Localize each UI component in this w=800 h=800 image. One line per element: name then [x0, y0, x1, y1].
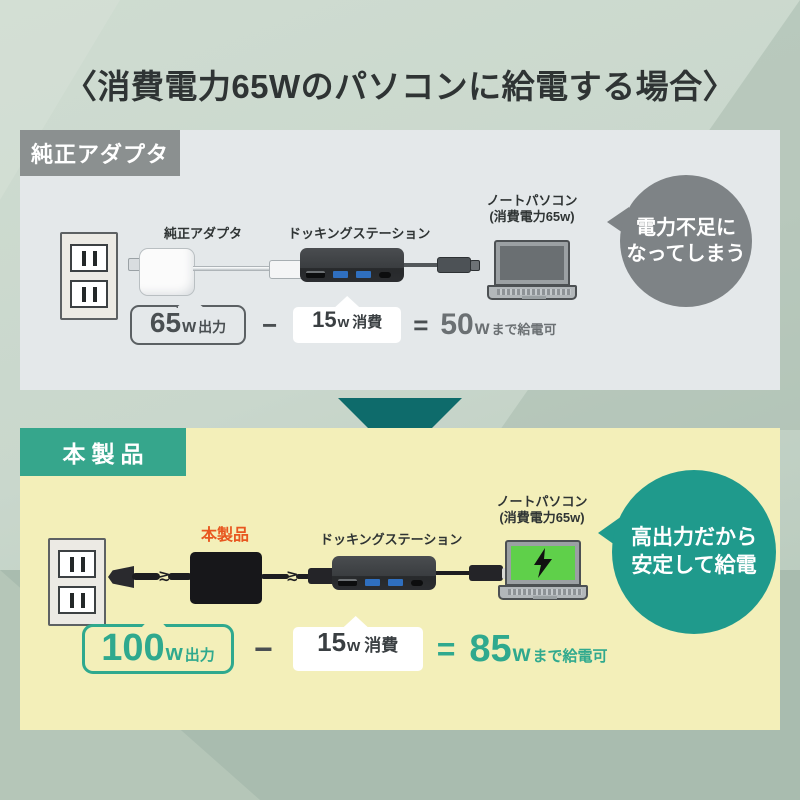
formula-consume-box-bottom: 15 w 消費: [293, 627, 423, 671]
formula-minus-top: −: [262, 310, 277, 341]
lightning-bolt-icon: [532, 548, 554, 578]
label-original-adapter: 純正アダプタ: [143, 226, 263, 242]
laptop-keyboard-bottom: [508, 589, 582, 595]
label-docking-station-top: ドッキングステーション: [288, 226, 418, 242]
outlet-socket-lower-bottom: [58, 586, 96, 614]
ac-plug-prong-icon: [108, 566, 134, 588]
callout-power-shortage: 電力不足に なってしまう: [620, 175, 752, 307]
formula-equals-top: =: [413, 310, 428, 341]
original-adapter-body: [139, 248, 195, 296]
dock-cable-top: [404, 263, 440, 267]
laptop-bottom: [498, 540, 588, 602]
formula-notch-output-top: [176, 296, 204, 308]
formula-output-box-top: 65 w 出力: [130, 305, 246, 345]
badge-original-adapter: 純正アダプタ: [20, 130, 180, 176]
label-this-product: 本製品: [170, 526, 280, 546]
outlet-socket-upper-bottom: [58, 550, 96, 578]
label-laptop-bottom: ノートパソコン (消費電力65w): [472, 494, 612, 527]
formula-notch-consume-top: [334, 296, 360, 308]
formula-notch-output-bottom: [141, 614, 167, 628]
laptop-top: [487, 240, 577, 302]
outlet-socket-lower: [70, 280, 108, 308]
port-usb-a-2-icon: [356, 271, 371, 278]
power-outlet-bottom: [48, 538, 106, 626]
callout-stable-power: 高出力だから 安定して給電: [612, 470, 776, 634]
laptop-screen-top: [500, 246, 564, 280]
dock-usbc-plug-top: [437, 257, 471, 273]
power-outlet-top: [60, 232, 118, 320]
laptop-keyboard-top: [497, 289, 571, 295]
port-usb-a-2-icon-bottom: [388, 579, 403, 586]
laptop-lid-top: [494, 240, 570, 286]
formula-top: 65 w 出力 − 15 w 消費 = 50 w まで給電可: [130, 305, 557, 345]
laptop-trackpad-top: [522, 296, 546, 299]
port-usb-c-icon-bottom: [411, 580, 423, 586]
laptop-screen-bottom: [511, 546, 575, 580]
formula-bottom: 100 w 出力 − 15 w 消費 = 85 w まで給電可: [82, 624, 608, 674]
outlet-socket-upper: [70, 244, 108, 272]
formula-consume-box-top: 15 w 消費: [293, 307, 401, 343]
adapter-cable-top: [193, 266, 273, 271]
port-hdmi-icon-bottom: [338, 579, 357, 586]
laptop-base-top: [487, 285, 577, 300]
formula-result-bottom: 85 w まで給電可: [469, 628, 607, 671]
dock-ports-top: [306, 271, 391, 278]
formula-notch-consume-bottom: [343, 616, 369, 628]
dock-ports-bottom: [338, 579, 423, 586]
dc-cable-right-1: [261, 574, 289, 579]
label-docking-station-bottom: ドッキングステーション: [320, 532, 450, 548]
formula-minus-bottom: −: [254, 631, 273, 668]
dock-usbc-tip-top: [470, 260, 480, 271]
laptop-base-bottom: [498, 585, 588, 600]
port-usb-a-1-icon: [333, 271, 348, 278]
formula-output-box-bottom: 100 w 出力: [82, 624, 234, 674]
docking-station-bottom: [332, 556, 436, 590]
this-product-adapter-body: [190, 552, 262, 604]
page-title: 〈消費電力65Wのパソコンに給電する場合〉: [0, 60, 800, 108]
port-usb-c-icon: [379, 272, 391, 278]
port-hdmi-icon: [306, 271, 325, 278]
panel-original-adapter: 純正アダプタ 純正アダプタ ドッキングステーション: [20, 130, 780, 390]
laptop-trackpad-bottom: [533, 596, 557, 599]
panel-this-product: 本製品 ≳ ≳ 本製品 ドッキングステーション: [20, 428, 780, 730]
formula-equals-bottom: =: [437, 631, 456, 668]
port-usb-a-1-icon-bottom: [365, 579, 380, 586]
laptop-lid-bottom: [505, 540, 581, 586]
label-laptop-top: ノートパソコン (消費電力65w): [462, 193, 602, 226]
ac-cable-left-2: [168, 573, 192, 580]
badge-this-product: 本製品: [20, 428, 186, 476]
infographic-root: 〈消費電力65Wのパソコンに給電する場合〉 純正アダプタ 純正アダプタ: [0, 0, 800, 800]
ac-cable-left-1: [132, 573, 160, 580]
formula-result-top: 50 w まで給電可: [440, 308, 556, 342]
docking-station-top: [300, 248, 404, 282]
dock-cable-bottom: [436, 571, 472, 575]
